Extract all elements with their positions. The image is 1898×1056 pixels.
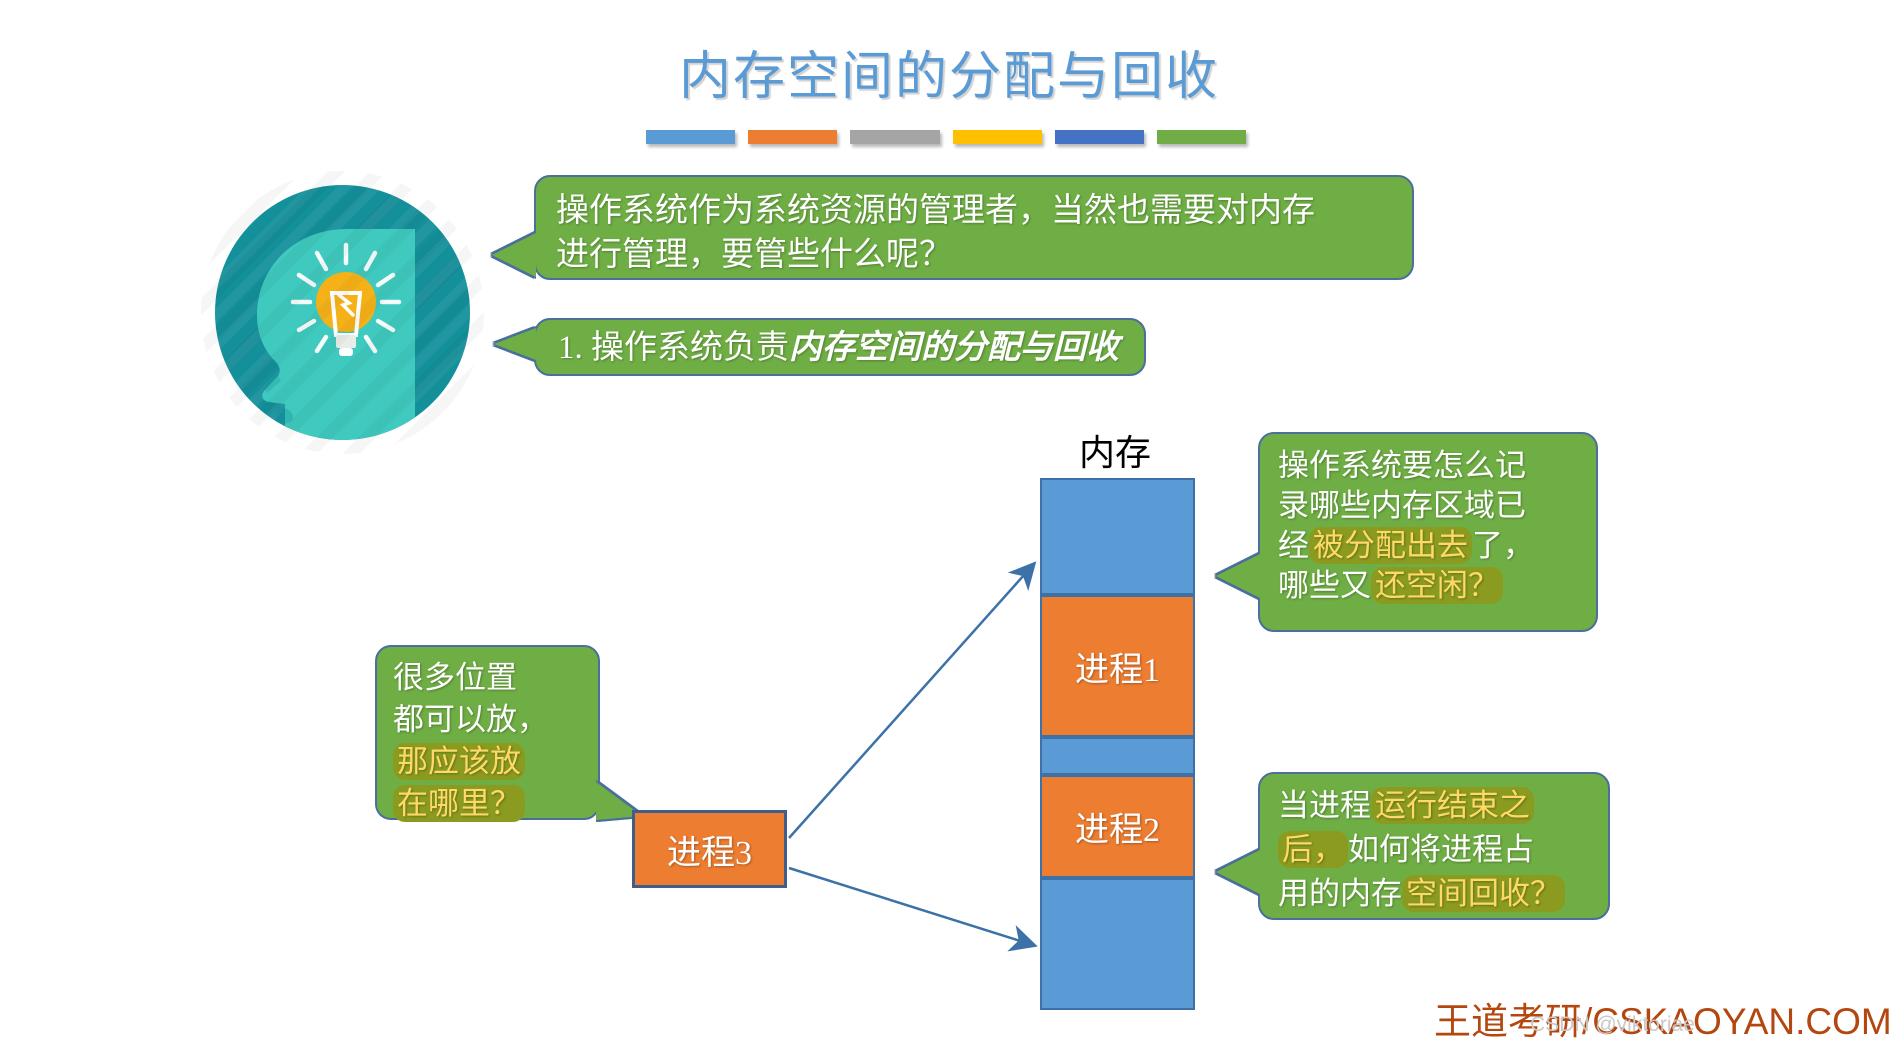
callout-manage-line2: 进行管理，要管些什么呢？ — [556, 233, 1394, 277]
page-title: 内存空间的分配与回收 — [0, 48, 1898, 108]
rule-bar-2 — [748, 130, 837, 144]
callout-manage: 操作系统作为系统资源的管理者，当然也需要对内存 进行管理，要管些什么呢？ — [534, 175, 1414, 280]
connector-arrows — [0, 0, 1898, 1056]
callout-record-line3: 经被分配出去了， — [1278, 526, 1584, 566]
memory-segment-free-top — [1040, 478, 1195, 595]
callout-reclaim-line1: 当进程运行结束之 — [1278, 784, 1596, 828]
head-lightbulb-icon — [215, 185, 470, 440]
callout-record-tail — [1216, 554, 1260, 598]
process3-box: 进程3 — [632, 810, 787, 888]
callout-reclaim: 当进程运行结束之 后，如何将进程占 用的内存空间回收？ — [1258, 772, 1610, 920]
arrow-process3-to-free-bottom — [789, 868, 1033, 945]
memory-label: 内存 — [1040, 432, 1190, 474]
rule-bar-5 — [1055, 130, 1144, 144]
callout-rule1-prefix: 1. 操作系统负责 — [558, 330, 789, 366]
callout-reclaim-line2: 后，如何将进程占 — [1278, 828, 1596, 872]
memory-segment-process2: 进程2 — [1040, 775, 1195, 878]
callout-reclaim-line3-plain: 用的内存 — [1278, 876, 1402, 911]
memory-segment-process1-label: 进程1 — [1075, 642, 1160, 691]
callout-record: 操作系统要怎么记 录哪些内存区域已 经被分配出去了， 哪些又还空闲？ — [1258, 432, 1598, 632]
callout-record-line3-plain: 经 — [1278, 528, 1309, 563]
callout-manage-line1: 操作系统作为系统资源的管理者，当然也需要对内存 — [556, 189, 1394, 233]
callout-place-line2: 都可以放， — [393, 699, 588, 741]
callout-reclaim-tail — [1216, 850, 1260, 894]
csdn-watermark: CSDN @viktoriae — [1530, 1013, 1695, 1037]
arrow-process3-to-free-top — [789, 565, 1033, 838]
memory-segment-free-bottom — [1040, 878, 1195, 1010]
head-lightbulb-glyph — [215, 185, 470, 440]
callout-place-line4: 在哪里？ — [393, 783, 588, 825]
rule-bar-6 — [1157, 130, 1246, 144]
callout-record-line3-tail: 了， — [1472, 528, 1534, 563]
callout-record-line4-highlight: 还空闲？ — [1371, 567, 1503, 604]
callout-reclaim-line1-highlight: 运行结束之 — [1371, 787, 1534, 824]
callout-record-line1: 操作系统要怎么记 — [1278, 446, 1584, 486]
callout-place-line3: 那应该放 — [393, 741, 588, 783]
memory-segment-process1: 进程1 — [1040, 595, 1195, 737]
callout-place-line1: 很多位置 — [393, 657, 588, 699]
process3-label: 进程3 — [667, 825, 752, 874]
callout-reclaim-line3: 用的内存空间回收？ — [1278, 872, 1596, 916]
callout-record-line4-plain: 哪些又 — [1278, 568, 1371, 603]
rule-bar-4 — [953, 130, 1042, 144]
callout-record-line3-highlight: 被分配出去 — [1309, 527, 1472, 564]
callout-place-line4-highlight: 在哪里？ — [393, 785, 525, 822]
memory-segment-process2-label: 进程2 — [1075, 802, 1160, 851]
callout-manage-tail — [492, 233, 536, 277]
memory-segment-free-gap — [1040, 737, 1195, 775]
callout-place: 很多位置 都可以放， 那应该放 在哪里？ — [375, 645, 600, 820]
slide-canvas: 内存空间的分配与回收 — [0, 0, 1898, 1056]
callout-reclaim-line2-highlight: 后， — [1278, 831, 1348, 868]
callout-rule1: 1. 操作系统负责内存空间的分配与回收 — [534, 318, 1146, 376]
callout-record-line2: 录哪些内存区域已 — [1278, 486, 1584, 526]
callout-record-line4: 哪些又还空闲？ — [1278, 566, 1584, 606]
callout-reclaim-line3-highlight: 空间回收？ — [1402, 875, 1565, 912]
callout-place-line3-highlight: 那应该放 — [393, 743, 525, 780]
callout-rule1-emphasis: 内存空间的分配与回收 — [789, 330, 1119, 366]
callout-reclaim-line2-plain: 如何将进程占 — [1348, 832, 1534, 867]
memory-column: 进程1 进程2 — [1040, 478, 1195, 1010]
title-rule-bars — [646, 130, 1246, 148]
callout-rule1-tail — [494, 328, 536, 360]
rule-bar-1 — [646, 130, 735, 144]
callout-reclaim-line1-plain: 当进程 — [1278, 788, 1371, 823]
rule-bar-3 — [850, 130, 939, 144]
